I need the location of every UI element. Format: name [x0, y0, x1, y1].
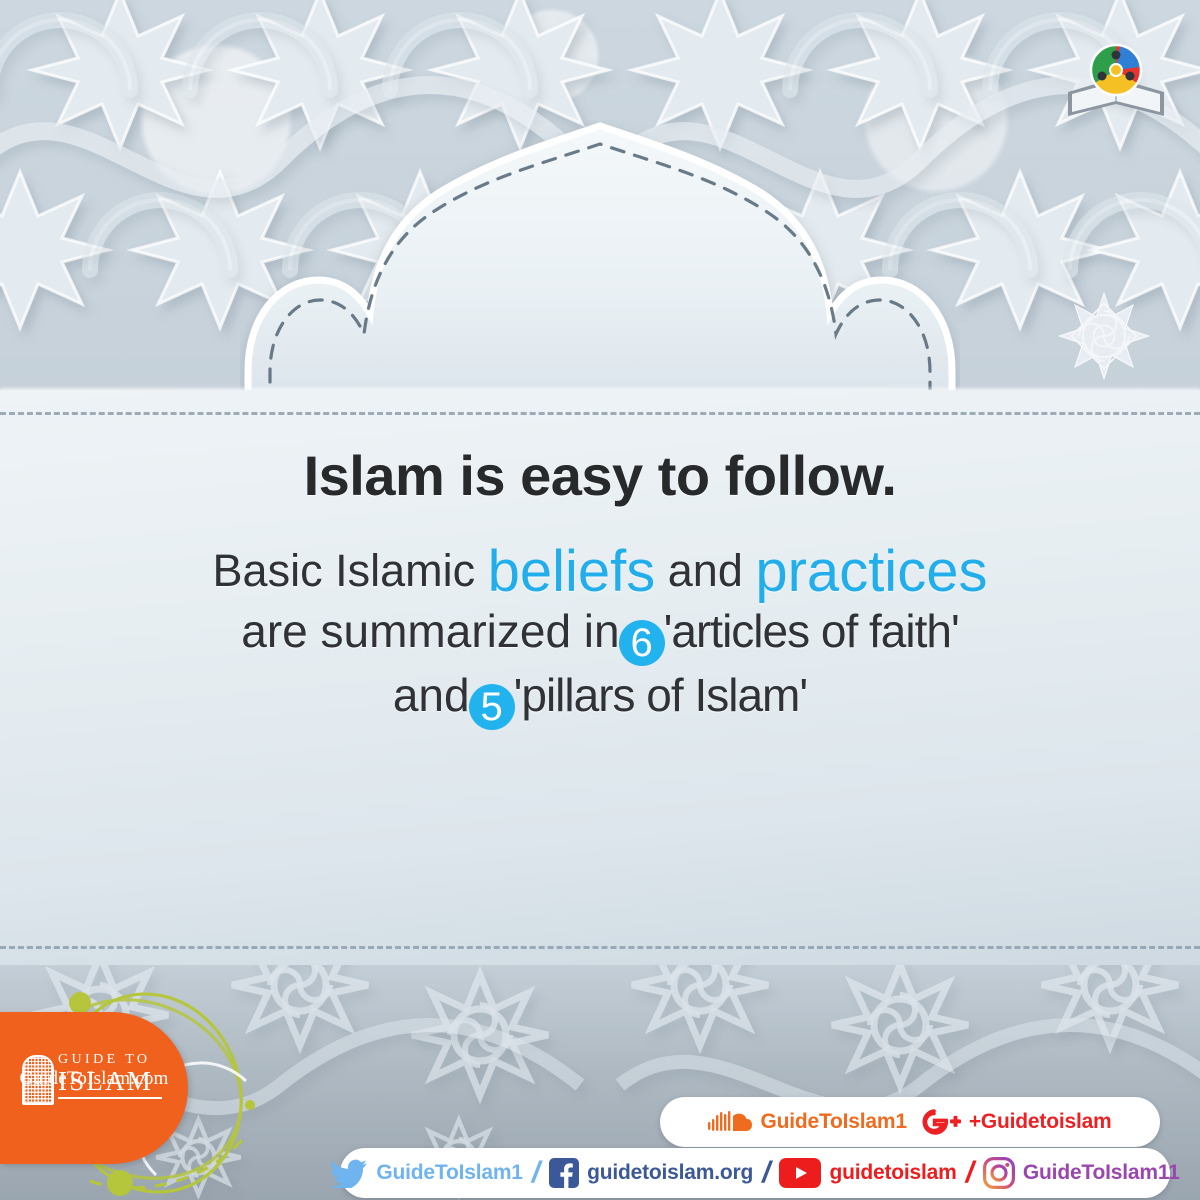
soundcloud-icon: [708, 1109, 752, 1135]
page-title: Islam is easy to follow.: [0, 443, 1200, 508]
twitter-handle: GuideToIslam1: [376, 1161, 522, 1185]
line2-text-a: are summarized in: [241, 605, 619, 657]
poster-canvas: Islam is easy to follow. Basic Islamic b…: [0, 0, 1200, 1200]
soundcloud-handle: GuideToIslam1: [760, 1110, 906, 1134]
instagram-handle: GuideToIslam11: [1023, 1161, 1180, 1185]
body-line-2: are summarized in6'articles of faith': [60, 608, 1140, 666]
count-badge-six: 6: [619, 620, 665, 666]
line1-text-a: Basic Islamic: [213, 545, 488, 596]
instagram-icon: [983, 1157, 1015, 1189]
globe-book-logo-icon: [1062, 34, 1170, 126]
line1-text-b: and: [655, 545, 755, 596]
body-copy: Basic Islamic beliefs and practices are …: [60, 542, 1140, 730]
youtube-handle: guidetoislam: [829, 1161, 956, 1185]
line3-text-a: and: [393, 669, 470, 721]
social-link-instagram[interactable]: GuideToIslam11: [983, 1157, 1180, 1189]
rosette-ornament-icon: [1056, 288, 1152, 384]
social-link-youtube[interactable]: guidetoislam: [779, 1158, 956, 1188]
facebook-icon: [549, 1158, 579, 1188]
logo-divider-rule: [58, 1097, 162, 1099]
band-dashed-line-top: [0, 412, 1200, 415]
social-bar-bottom: GuideToIslam1 / guidetoislam.org / guide…: [340, 1148, 1170, 1198]
separator-1: /: [532, 1156, 540, 1190]
body-line-1: Basic Islamic beliefs and practices: [60, 542, 1140, 602]
logo-website-url[interactable]: GuideToIslam.com: [2, 1068, 186, 1090]
youtube-icon: [779, 1158, 821, 1188]
social-link-google-plus[interactable]: +Guidetoislam: [921, 1107, 1112, 1137]
body-line-3: and5'pillars of Islam': [60, 672, 1140, 730]
logo-guide-to-text: GUIDE TO: [58, 1052, 162, 1067]
dome-arch-shape: [240, 120, 960, 410]
separator-3: /: [966, 1156, 974, 1190]
social-bar-top: GuideToIslam1 +Guidetoislam: [660, 1097, 1160, 1147]
social-link-facebook[interactable]: guidetoislam.org: [549, 1158, 753, 1188]
google-plus-icon: [921, 1107, 961, 1137]
count-badge-five: 5: [469, 684, 515, 730]
guide-to-islam-logo-badge[interactable]: GUIDE TO ISLAM GuideToIslam.com: [0, 1012, 188, 1164]
band-dashed-line-bottom: [0, 946, 1200, 949]
line2-text-b: 'articles of faith': [664, 605, 959, 657]
accent-word-practices: practices: [755, 539, 987, 604]
social-link-soundcloud[interactable]: GuideToIslam1: [708, 1109, 906, 1135]
separator-2: /: [762, 1156, 770, 1190]
social-link-twitter[interactable]: GuideToIslam1: [330, 1158, 522, 1188]
accent-word-beliefs: beliefs: [488, 539, 656, 604]
facebook-handle: guidetoislam.org: [587, 1161, 753, 1185]
twitter-icon: [330, 1158, 368, 1188]
google-plus-handle: +Guidetoislam: [969, 1110, 1112, 1134]
line3-text-b: 'pillars of Islam': [514, 669, 808, 721]
